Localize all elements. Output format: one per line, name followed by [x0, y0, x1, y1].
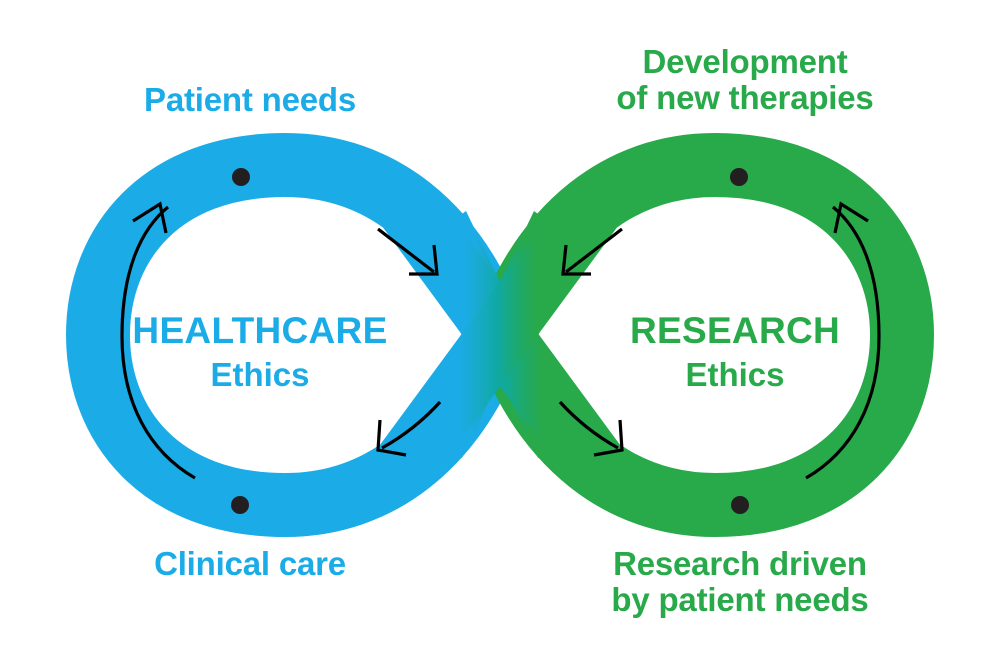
label-clinical-care: Clinical care [80, 546, 420, 582]
node-research-top [730, 168, 748, 186]
node-healthcare-bottom [231, 496, 249, 514]
label-patient-needs: Patient needs [80, 82, 420, 118]
healthcare-subtitle: Ethics [110, 356, 410, 394]
node-healthcare-top [232, 168, 250, 186]
node-research-bottom [731, 496, 749, 514]
label-research-driven-by-patient-needs: Research driven by patient needs [560, 546, 920, 617]
infographic-canvas: Patient needs Clinical care Development … [0, 0, 1000, 671]
research-subtitle: Ethics [585, 356, 885, 394]
research-ethics-block: RESEARCH Ethics [585, 310, 885, 394]
research-title: RESEARCH [585, 310, 885, 352]
healthcare-ethics-block: HEALTHCARE Ethics [110, 310, 410, 394]
label-development-of-new-therapies: Development of new therapies [570, 44, 920, 115]
healthcare-title: HEALTHCARE [110, 310, 410, 352]
